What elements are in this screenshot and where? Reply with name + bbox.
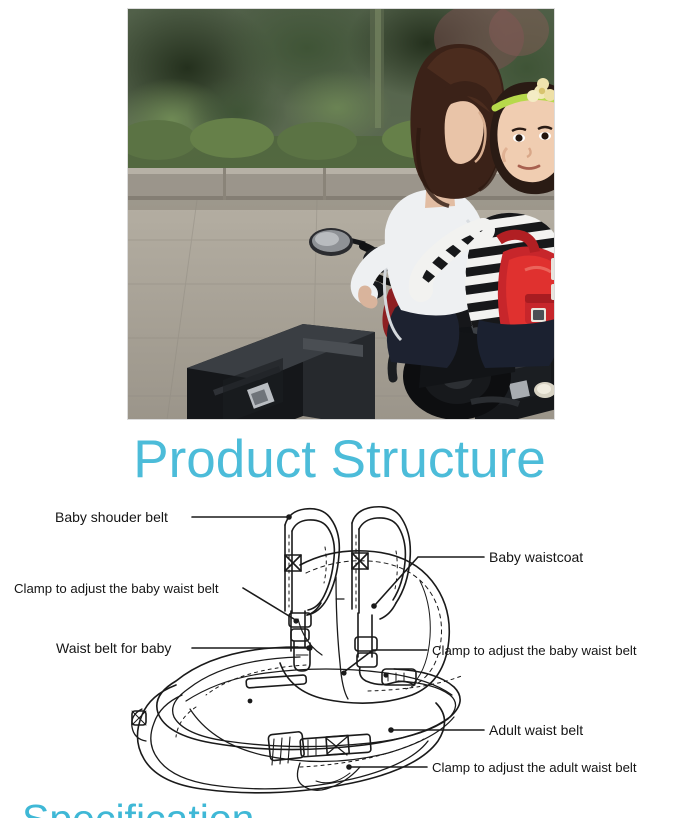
label-baby-shoulder-belt: Baby shouder belt	[55, 509, 168, 525]
next-section-heading-text: Specification	[22, 796, 254, 818]
label-adult-waist-belt: Adult waist belt	[489, 722, 583, 738]
label-clamp-baby-waist-belt-left: Clamp to adjust the baby waist belt	[14, 581, 219, 596]
right-shoulder-strap-outer	[352, 507, 410, 603]
leader-baby-waistcoat	[375, 557, 484, 605]
label-waist-belt-for-baby: Waist belt for baby	[56, 640, 171, 656]
label-clamp-baby-waist-belt-right: Clamp to adjust the baby waist belt	[432, 643, 637, 658]
label-baby-waistcoat: Baby waistcoat	[489, 549, 583, 565]
leader-clamp-baby-left	[243, 588, 294, 619]
photo-illustration	[127, 8, 555, 420]
page-title: Product Structure	[0, 428, 679, 492]
product-lifestyle-photo	[127, 8, 555, 420]
clamp-right	[341, 637, 416, 685]
harness-line-drawing: Baby shouder belt Baby waistcoat Clamp t…	[0, 495, 679, 795]
next-section-heading: Specification	[0, 796, 679, 818]
label-clamp-adult-waist-belt: Clamp to adjust the adult waist belt	[432, 760, 637, 775]
right-shoulder-strap-inner	[359, 518, 405, 600]
adult-belt-buckle	[268, 731, 305, 765]
product-structure-diagram: Baby shouder belt Baby waistcoat Clamp t…	[0, 495, 679, 795]
